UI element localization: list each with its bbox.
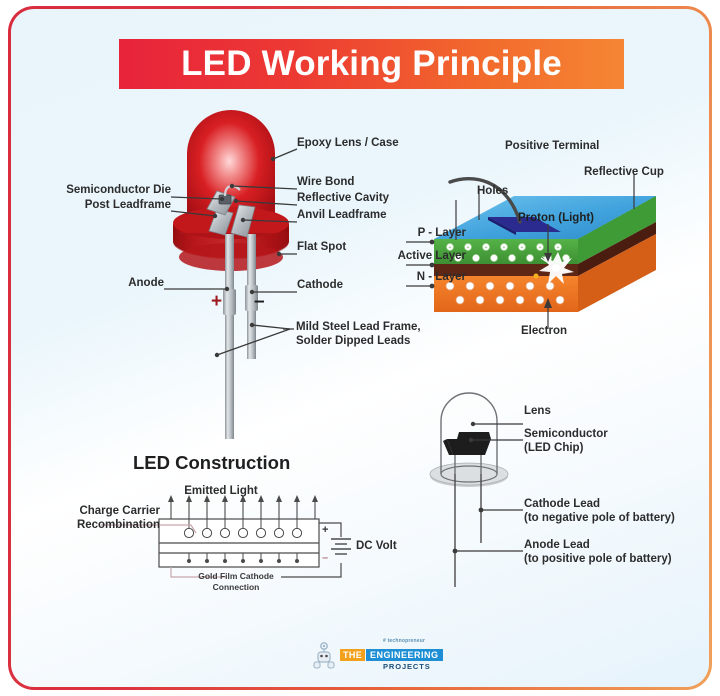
footer-brand-engineering: ENGINEERING bbox=[366, 649, 443, 661]
svg-text:+: + bbox=[503, 245, 506, 251]
label-battery-plus: + bbox=[322, 524, 328, 538]
label-anode-lead-1: Anode Lead bbox=[524, 539, 590, 553]
label-battery-minus: – bbox=[322, 552, 328, 566]
label-anode: Anode bbox=[61, 277, 164, 291]
label-semiconductor-1: Semiconductor bbox=[524, 428, 608, 442]
label-electron: Electron bbox=[521, 325, 567, 339]
label-n-layer: N - Layer bbox=[394, 271, 466, 285]
label-anvil-leadframe: Anvil Leadframe bbox=[297, 209, 386, 223]
label-flat-spot: Flat Spot bbox=[297, 241, 346, 255]
label-positive-terminal: Positive Terminal bbox=[505, 140, 599, 154]
label-cathode: Cathode bbox=[297, 279, 343, 293]
label-charge-carrier-2: Recombination bbox=[45, 519, 160, 533]
svg-text:+: + bbox=[467, 245, 470, 251]
svg-text:+: + bbox=[485, 245, 488, 251]
label-post-leadframe: Post Leadframe bbox=[41, 199, 171, 213]
label-gold-film-1: Gold Film Cathode bbox=[171, 571, 301, 581]
section-heading-led-construction: LED Construction bbox=[133, 452, 290, 474]
label-anode-plus-sign: + bbox=[211, 295, 222, 309]
label-reflective-cup: Reflective Cup bbox=[584, 166, 664, 180]
label-proton-light: Proton (Light) bbox=[518, 212, 594, 226]
footer-brand-projects: PROJECTS bbox=[383, 662, 431, 671]
label-emitted-light: Emitted Light bbox=[161, 485, 281, 499]
footer-tagline: # technopreneur bbox=[383, 638, 425, 644]
label-cathode-minus-sign: – bbox=[254, 295, 265, 309]
label-p-layer: P - Layer bbox=[394, 227, 466, 241]
label-mild-steel-lead-frame-2: Solder Dipped Leads bbox=[296, 335, 410, 349]
robot-logo-icon bbox=[311, 642, 337, 670]
footer-brand-the: THE bbox=[340, 649, 365, 661]
label-cathode-lead-2: (to negative pole of battery) bbox=[524, 512, 675, 526]
footer-branding[interactable]: # technopreneur THE ENGINEERING PROJECTS bbox=[311, 638, 441, 674]
label-wire-bond: Wire Bond bbox=[297, 176, 354, 190]
poster-canvas: LED Working Principle bbox=[11, 9, 709, 687]
label-gold-film-2: Connection bbox=[171, 582, 301, 592]
label-epoxy-lens: Epoxy Lens / Case bbox=[297, 137, 399, 151]
label-anode-lead-2: (to positive pole of battery) bbox=[524, 553, 672, 567]
svg-text:+: + bbox=[521, 245, 524, 251]
label-semiconductor-2: (LED Chip) bbox=[524, 442, 583, 456]
label-dc-volt: DC Volt bbox=[356, 540, 397, 554]
label-holes: Holes bbox=[477, 185, 508, 199]
label-semiconductor-die: Semiconductor Die bbox=[41, 184, 171, 198]
svg-text:+: + bbox=[539, 245, 542, 251]
label-mild-steel-lead-frame-1: Mild Steel Lead Frame, bbox=[296, 321, 421, 335]
label-charge-carrier-1: Charge Carrier bbox=[45, 505, 160, 519]
infographic-poster: LED Working Principle bbox=[0, 0, 720, 696]
svg-text:+: + bbox=[557, 245, 560, 251]
label-reflective-cavity: Reflective Cavity bbox=[297, 192, 389, 206]
label-cathode-lead-1: Cathode Lead bbox=[524, 498, 600, 512]
label-active-layer: Active Layer bbox=[383, 250, 466, 264]
label-lens: Lens bbox=[524, 405, 551, 419]
poster-frame: LED Working Principle bbox=[8, 6, 712, 690]
